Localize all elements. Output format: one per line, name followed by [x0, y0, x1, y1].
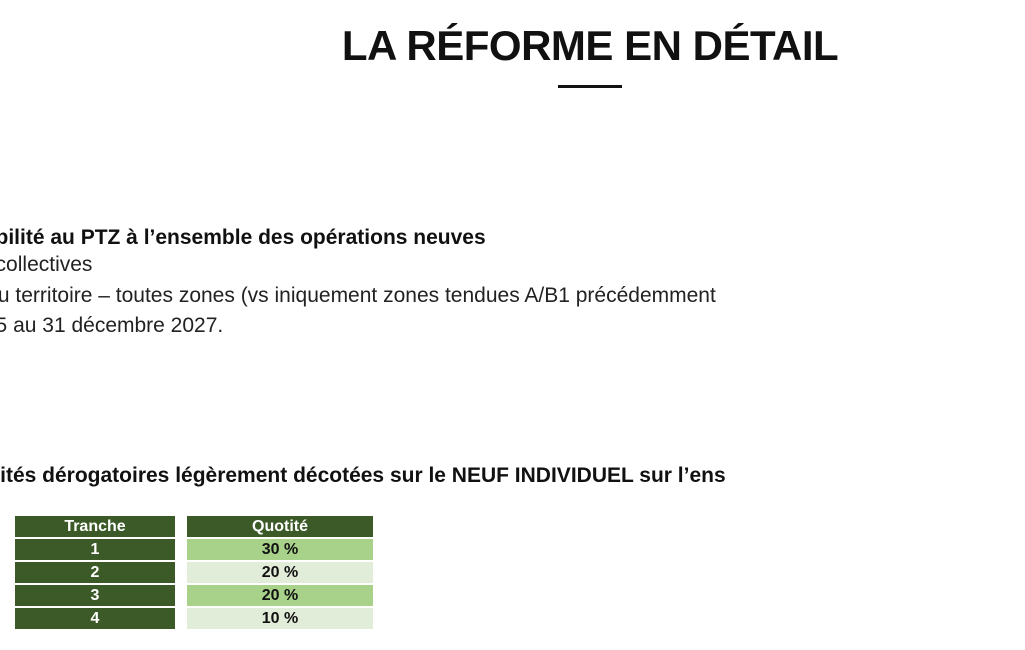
section-heading-1: ce 2025 — [0, 150, 1025, 179]
cell-quotite-1: 30 % — [186, 538, 374, 561]
page-title: LA RÉFORME EN DÉTAIL — [0, 22, 1025, 69]
table-row: 4 10 % — [14, 607, 374, 630]
table-row: 3 20 % — [14, 584, 374, 607]
section-1-line-4: 1er avril 2025 au 31 décembre 2027. — [0, 311, 1025, 341]
table-column-gap — [176, 515, 186, 538]
title-divider — [558, 85, 622, 88]
table-column-gap — [176, 538, 186, 561]
table-row: 2 20 % — [14, 561, 374, 584]
section-1-line-3: l’ensemble du territoire – toutes zones … — [0, 281, 1025, 311]
section-1-line-2: ividuelles et collectives — [0, 250, 1025, 280]
table-header-quotite: Quotité — [186, 515, 374, 538]
section-2-line-1: tion de quotités dérogatoires légèrement… — [0, 463, 1025, 489]
body-area: ce 2025 on de l’éligibilité au PTZ à l’e… — [0, 150, 1025, 514]
section-2-line-2: e ; — [0, 488, 1025, 514]
cell-tranche-1: 1 — [14, 538, 176, 561]
table-column-gap — [176, 607, 186, 630]
cell-tranche-2: 2 — [14, 561, 176, 584]
spacer — [0, 179, 1025, 225]
spacer — [0, 417, 1025, 463]
table-header-tranche: Tranche — [14, 515, 176, 538]
slide-canvas: LA RÉFORME EN DÉTAIL ce 2025 on de l’éli… — [0, 0, 1025, 650]
cell-quotite-4: 10 % — [186, 607, 374, 630]
cell-tranche-3: 3 — [14, 584, 176, 607]
section-1-line-1: on de l’éligibilité au PTZ à l’ensemble … — [0, 225, 1025, 251]
section-heading-2: plication — [0, 388, 1025, 417]
table-column-gap — [176, 561, 186, 584]
cell-quotite-3: 20 % — [186, 584, 374, 607]
title-block: LA RÉFORME EN DÉTAIL — [0, 22, 1025, 88]
table-row: 1 30 % — [14, 538, 374, 561]
spacer — [0, 342, 1025, 388]
cell-tranche-4: 4 — [14, 607, 176, 630]
table-column-gap — [176, 584, 186, 607]
cell-quotite-2: 20 % — [186, 561, 374, 584]
table-header-row: Tranche Quotité — [14, 515, 374, 538]
quota-table: Tranche Quotité 1 30 % 2 20 % 3 20 % — [14, 515, 374, 630]
